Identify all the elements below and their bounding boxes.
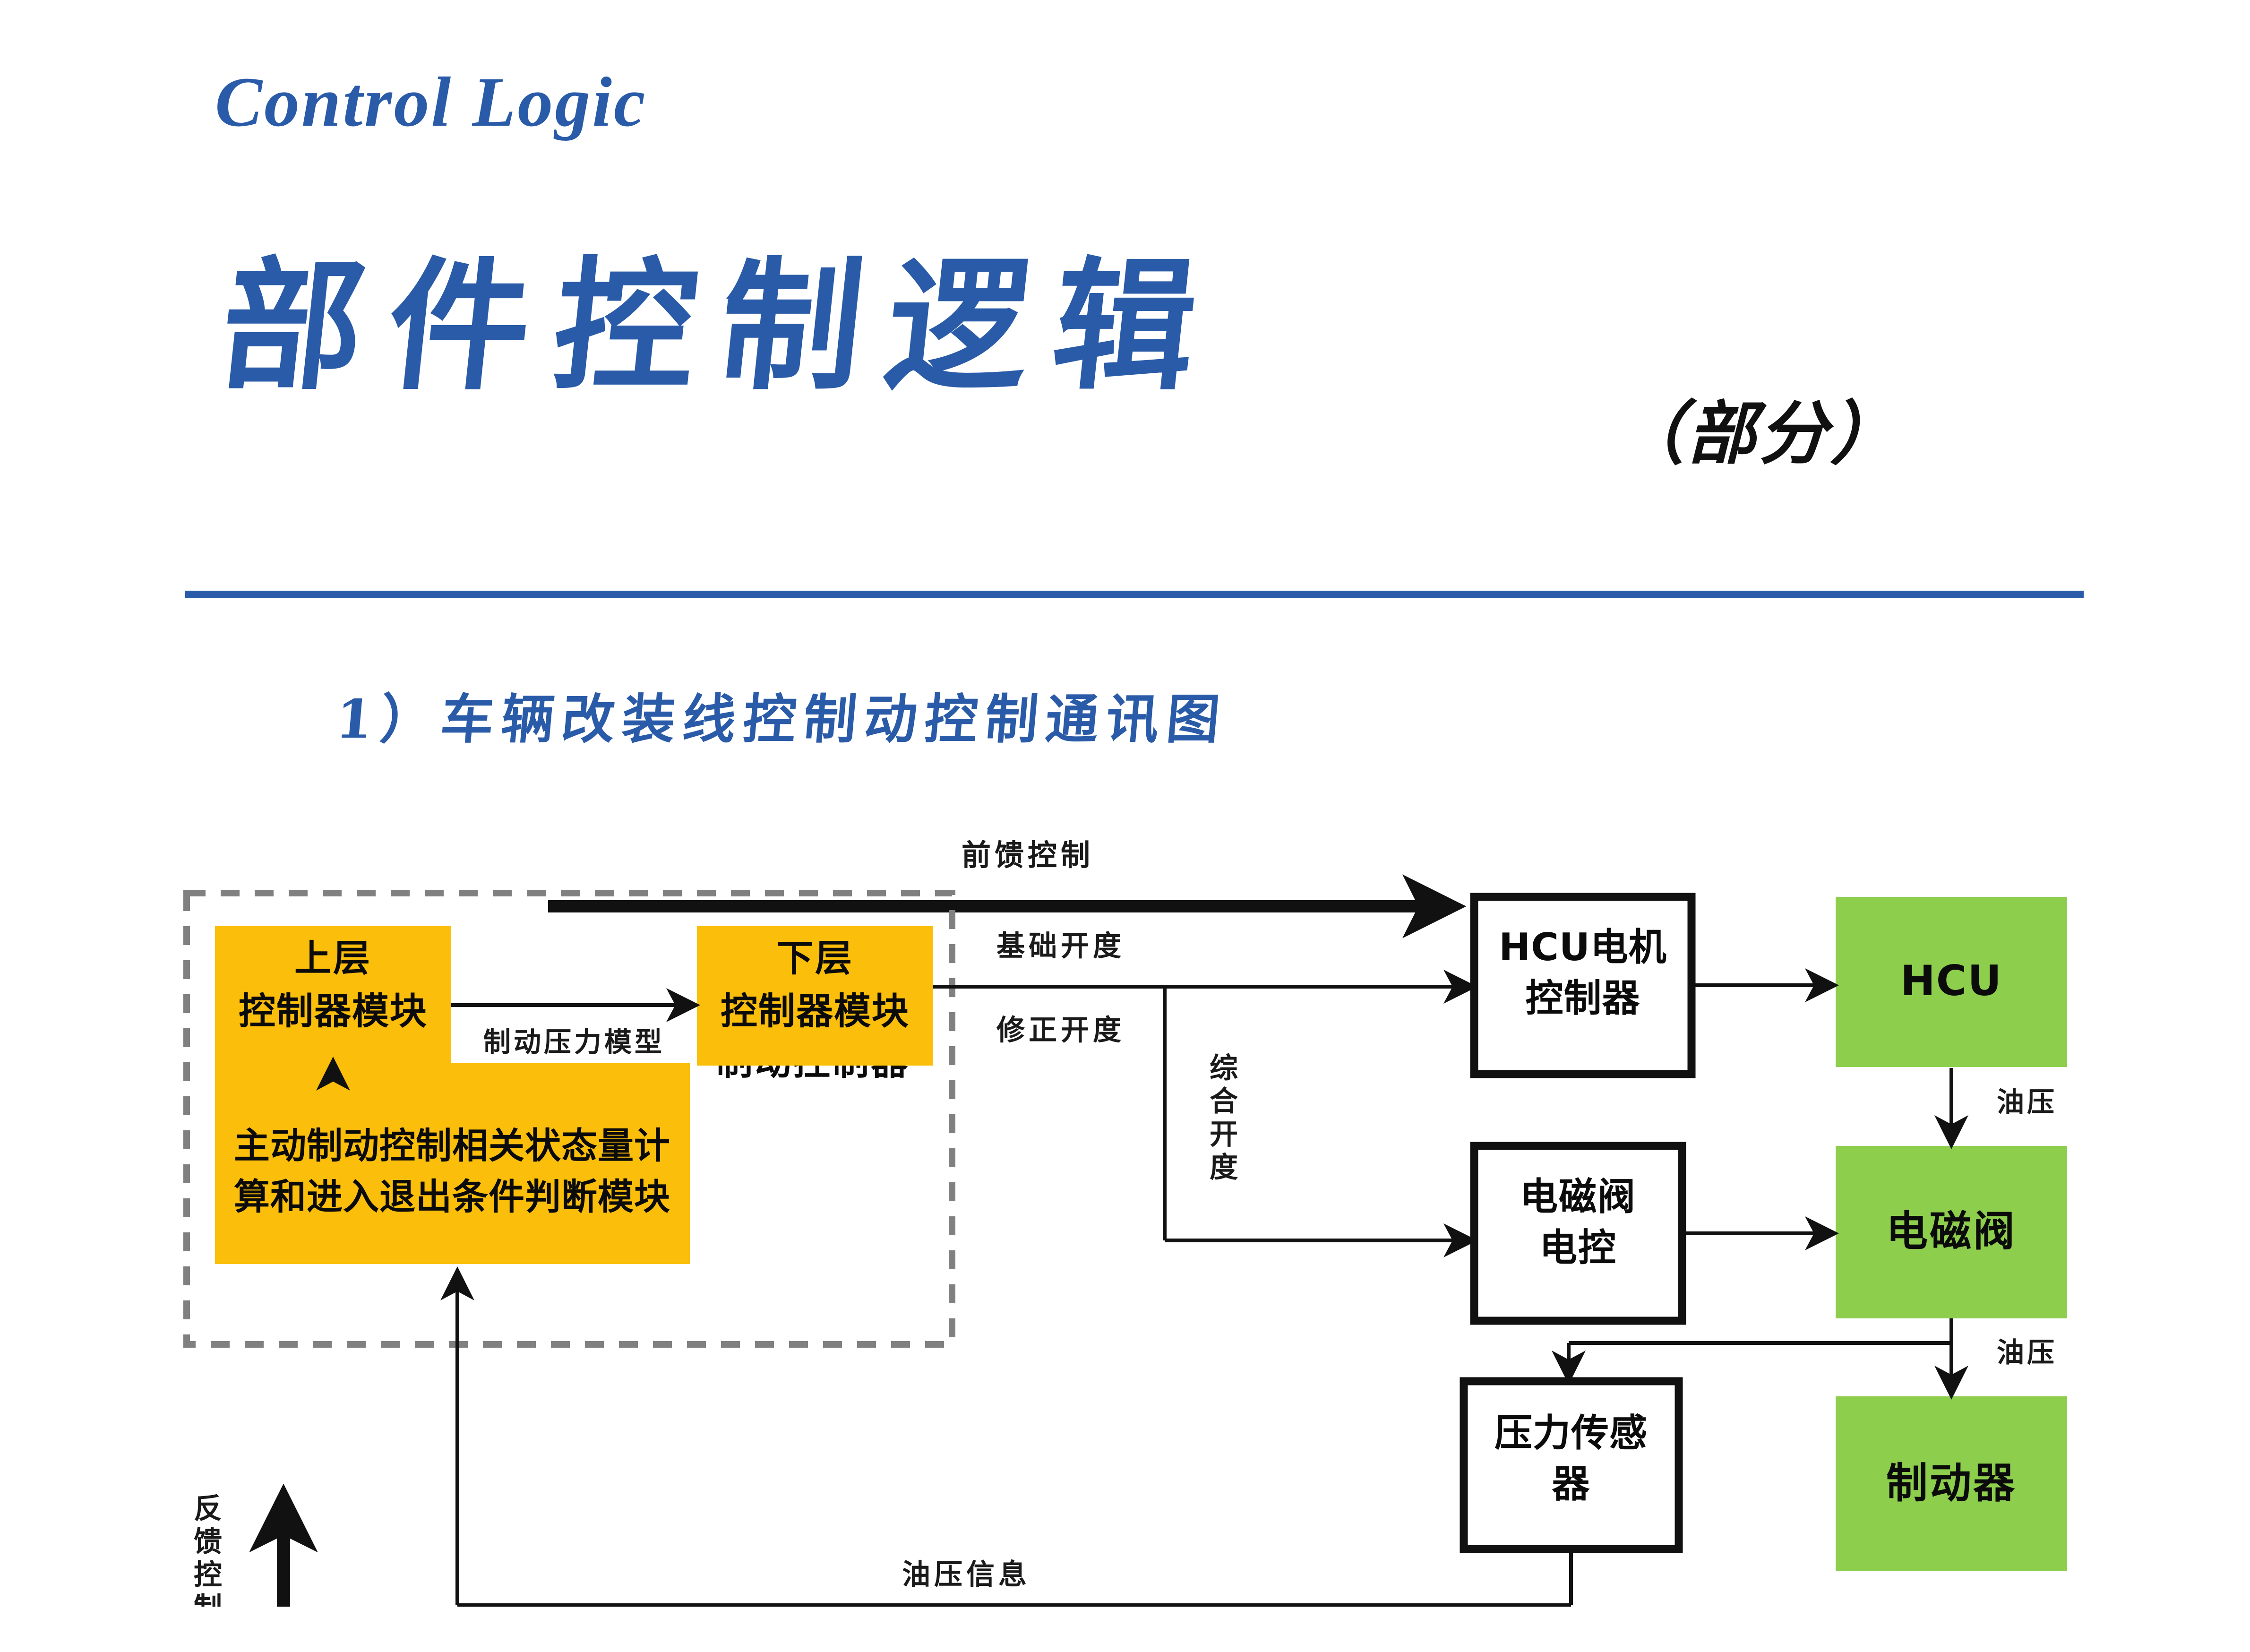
node-state-module[interactable]: 主动制动控制相关状态量计 算和进入退出条件判断模块 xyxy=(215,1063,690,1264)
edge-label-base-opening: 基础开度 xyxy=(996,930,1125,963)
page-title: 部件控制逻辑 xyxy=(215,255,1228,397)
node-pressure-sensor-line1: 压力传感 xyxy=(1494,1411,1648,1455)
node-hcu-motor-controller-line1: HCU电机 xyxy=(1499,925,1667,969)
node-solenoid-valve[interactable]: 电磁阀 xyxy=(1836,1146,2067,1318)
edge-oil-pressure-info-feedback xyxy=(457,1272,1571,1605)
edge-label-corrected-opening: 修正开度 xyxy=(996,1014,1125,1047)
edge-label-oil-pressure-2: 油压 xyxy=(1997,1336,2057,1368)
edge-label-brake-pressure-model: 制动压力模型 xyxy=(483,1026,665,1058)
node-pressure-sensor-line2: 器 xyxy=(1552,1462,1590,1506)
node-hcu[interactable]: HCU xyxy=(1836,897,2067,1067)
node-upper-controller-line2: 控制器模块 xyxy=(239,990,428,1032)
node-lower-controller[interactable]: 下层 控制器模块 xyxy=(697,926,933,1066)
node-solenoid-electronic-control[interactable]: 电磁阀 电控 xyxy=(1474,1146,1682,1321)
node-lower-controller-line2: 控制器模块 xyxy=(721,990,910,1032)
node-solenoid-ctrl-line2: 电控 xyxy=(1539,1226,1617,1270)
edge-label-oil-pressure-1: 油压 xyxy=(1997,1086,2057,1118)
node-upper-controller[interactable]: 上层 控制器模块 xyxy=(215,926,451,1066)
section-heading: 1）车辆改装线控制动控制通讯图 xyxy=(333,677,1231,753)
node-pressure-sensor[interactable]: 压力传感 器 xyxy=(1464,1381,1679,1549)
node-hcu-label: HCU xyxy=(1900,956,2002,1005)
page-title-suffix: （部分） xyxy=(1616,378,1901,477)
title-divider-rule xyxy=(185,591,2084,598)
node-state-module-line2: 算和进入退出条件判断模块 xyxy=(234,1176,670,1218)
kicker-control-logic: Control Logic xyxy=(215,61,647,143)
node-hcu-motor-controller[interactable]: HCU电机 控制器 xyxy=(1474,897,1692,1074)
node-hcu-motor-controller-line2: 控制器 xyxy=(1526,976,1640,1020)
edge-label-oil-pressure-info: 油压信息 xyxy=(902,1558,1031,1592)
node-lower-controller-line1: 下层 xyxy=(776,937,854,980)
node-upper-controller-line1: 上层 xyxy=(294,937,372,980)
edge-label-feedback-control: 反馈控制 xyxy=(189,1493,222,1607)
node-brake[interactable]: 制动器 xyxy=(1836,1396,2067,1571)
edge-label-feedforward: 前馈控制 xyxy=(962,838,1094,872)
edge-label-combined-opening: 综合开度 xyxy=(1205,1053,1238,1185)
edge-valve-to-pressure-sensor xyxy=(1569,1343,1951,1379)
node-solenoid-ctrl-line1: 电磁阀 xyxy=(1520,1175,1636,1219)
slide-header: Control Logic 部件控制逻辑 （部分） xyxy=(0,0,2250,614)
node-state-module-line1: 主动制动控制相关状态量计 xyxy=(234,1125,670,1167)
control-logic-block-diagram: 前馈控制 改车线控 制动控制器 上层 控制器模块 下层 控制器模块 制动压力模型… xyxy=(0,775,2250,1484)
node-brake-label: 制动器 xyxy=(1886,1459,2017,1507)
node-solenoid-valve-label: 电磁阀 xyxy=(1886,1207,2017,1256)
